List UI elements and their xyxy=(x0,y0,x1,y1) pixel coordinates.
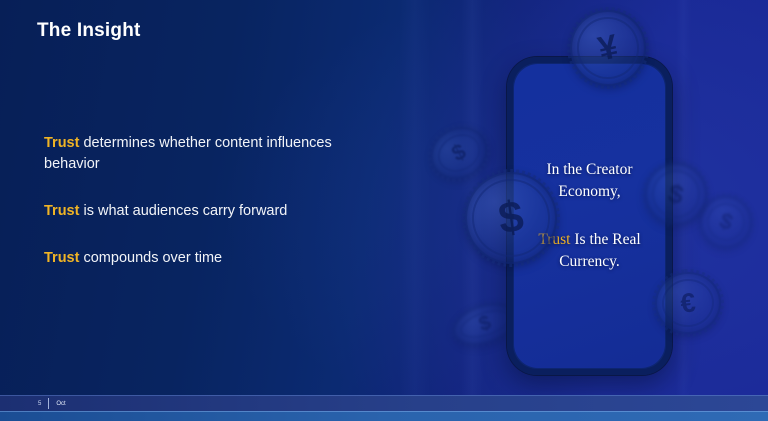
coin-left-1-icon: $ xyxy=(422,117,497,188)
bullet-list: Trust determines whether content influen… xyxy=(44,133,389,269)
coin-symbol: $ xyxy=(447,139,470,168)
coin-right-3-icon: $ xyxy=(693,189,760,256)
coin-symbol: € xyxy=(679,287,697,319)
footer-accent-strip xyxy=(0,411,768,421)
bullet-text: compounds over time xyxy=(79,250,222,266)
list-item: Trust determines whether content influen… xyxy=(44,133,389,175)
phone-headline-line-2: Trust Is the Real Currency. xyxy=(528,229,651,273)
phone-headline-line-1: In the Creator Economy, xyxy=(528,159,651,203)
phone-mockup: In the Creator Economy, Trust Is the Rea… xyxy=(507,57,672,375)
page-title: The Insight xyxy=(37,20,141,42)
bullet-text: determines whether content influences be… xyxy=(44,135,332,172)
bullet-text: is what audiences carry forward xyxy=(79,203,287,219)
footer-bar: 5 Oct xyxy=(0,395,768,411)
list-item: Trust compounds over time xyxy=(44,248,389,269)
phone-keyword: Trust xyxy=(538,231,570,248)
phone-screen: In the Creator Economy, Trust Is the Rea… xyxy=(514,64,665,368)
bullet-keyword: Trust xyxy=(44,250,79,266)
footer-divider xyxy=(48,398,49,409)
bullet-keyword: Trust xyxy=(44,135,79,151)
footer-label: Oct xyxy=(56,401,65,407)
coin-symbol: $ xyxy=(716,208,736,237)
phone-headline: In the Creator Economy, Trust Is the Rea… xyxy=(514,159,665,273)
list-item: Trust is what audiences carry forward xyxy=(44,201,389,222)
phone-headline-rest: Is the Real Currency. xyxy=(559,231,640,270)
slide: The Insight Trust determines whether con… xyxy=(0,0,768,421)
coin-symbol: $ xyxy=(476,311,494,336)
slide-number: 5 xyxy=(38,401,41,407)
bullet-keyword: Trust xyxy=(44,203,79,219)
